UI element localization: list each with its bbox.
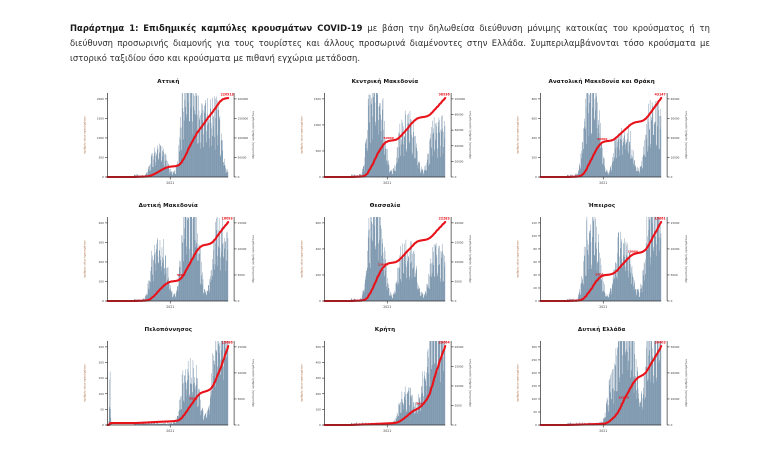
- y-tick-label-right: 0: [454, 423, 456, 427]
- y-tick-label-left: 500: [315, 149, 320, 153]
- y-tick-label-right: 10000: [238, 247, 247, 251]
- epidemic-curve-chart: 0501001502002500500010000150002021αριθμό…: [62, 333, 275, 448]
- cumulative-mid-label: 10000: [378, 262, 388, 266]
- y-tick-label-left: 100: [315, 407, 320, 411]
- cumulative-end-label: 15861: [655, 217, 666, 221]
- x-tick-label: 2021: [166, 429, 174, 433]
- y-tick-label-right: 20000: [454, 221, 463, 225]
- daily-cases-bars: [351, 93, 445, 177]
- y-tick-label-right: 30000: [671, 116, 680, 120]
- y-tick-label-right: 0: [671, 423, 673, 427]
- x-tick-label: 2021: [383, 181, 391, 185]
- y-axis-title-right: αθροιστικός αριθμός κρουσμάτων: [684, 235, 688, 283]
- x-tick-label: 2021: [383, 305, 391, 309]
- y-tick-label-left: 0: [536, 299, 538, 303]
- y-tick-label-left: 300: [99, 240, 104, 244]
- y-tick-label-left: 1000: [314, 123, 321, 127]
- cumulative-end-label: 98936: [438, 93, 450, 97]
- y-tick-label-left: 0: [102, 299, 104, 303]
- y-tick-label-right: 10000: [671, 156, 680, 160]
- y-tick-label-left: 0: [319, 423, 321, 427]
- x-tick-label: 2021: [600, 429, 608, 433]
- y-tick-label-left: 600: [315, 221, 320, 225]
- y-tick-label-right: 5000: [238, 273, 245, 277]
- cumulative-mid-label: 20000: [597, 137, 607, 141]
- y-tick-label-left: 40: [534, 273, 538, 277]
- y-axis-title-right: αθροιστικός αριθμός κρουσμάτων: [468, 359, 472, 407]
- y-tick-label-left: 400: [315, 247, 320, 251]
- daily-cases-bars: [108, 341, 228, 425]
- y-tick-label-left: 100: [99, 280, 104, 284]
- cumulative-mid-label: 5000: [596, 273, 604, 277]
- y-axis-title-left: αριθμός νέων κρουσμάτων: [83, 364, 87, 402]
- x-tick-label: 2021: [166, 305, 174, 309]
- y-tick-label-left: 250: [99, 345, 104, 349]
- y-tick-label-right: 15000: [238, 221, 247, 225]
- y-axis-title-left: αριθμός νέων κρουσμάτων: [299, 116, 303, 154]
- document-page: Παράρτημα 1: Επιδημικές καμπύλες κρουσμά…: [0, 0, 764, 457]
- cumulative-mid-label: 50000: [383, 136, 393, 140]
- y-tick-label-right: 10000: [454, 384, 463, 388]
- y-tick-label-left: 80: [534, 247, 538, 251]
- y-tick-label-left: 0: [319, 175, 321, 179]
- y-tick-label-left: 300: [532, 345, 537, 349]
- y-axis-title-right: αθροιστικός αριθμός κρουσμάτων: [468, 235, 472, 283]
- x-tick-label: 2021: [600, 181, 608, 185]
- daily-cases-bars: [351, 341, 445, 425]
- daily-cases-bars: [567, 341, 661, 425]
- y-tick-label-right: 60000: [454, 128, 463, 132]
- epidemic-curve-chart: 05010015020025030001000020000300002021αρ…: [495, 333, 708, 448]
- cumulative-end-label: 16093: [222, 217, 233, 221]
- chart-panel: Δυτική Μακεδονία010020030040005000100001…: [62, 200, 275, 324]
- y-tick-label-right: 10000: [238, 371, 247, 375]
- epidemic-curve-chart: 01002003004000500010000150002021αριθμός …: [62, 209, 275, 324]
- y-tick-label-left: 20: [534, 286, 538, 290]
- x-tick-label: 2021: [166, 181, 174, 185]
- cumulative-mid-label: 10000: [628, 249, 638, 253]
- y-tick-label-left: 600: [532, 116, 537, 120]
- y-tick-label-left: 100: [532, 234, 537, 238]
- y-tick-label-right: 30000: [671, 345, 680, 349]
- x-tick-label: 2021: [383, 429, 391, 433]
- caption-bold-title: Επιδημικές καμπύλες κρουσμάτων COVID-19: [143, 23, 362, 33]
- chart-panel: Αττική0500100015002000050000100000150000…: [62, 76, 275, 200]
- y-tick-label-right: 0: [238, 423, 240, 427]
- y-tick-label-right: 15000: [454, 240, 463, 244]
- y-tick-label-right: 0: [671, 299, 673, 303]
- chart-panel: Πελοπόννησος0501001502002500500010000150…: [62, 324, 275, 448]
- y-tick-label-left: 400: [315, 361, 320, 365]
- y-tick-label-right: 15000: [238, 345, 247, 349]
- cumulative-mid-label: 5000: [416, 402, 424, 406]
- y-tick-label-left: 150: [99, 376, 104, 380]
- y-tick-label-left: 200: [315, 273, 320, 277]
- y-tick-label-right: 5000: [671, 273, 678, 277]
- y-tick-label-right: 0: [454, 175, 456, 179]
- y-tick-label-right: 40000: [671, 97, 680, 101]
- y-axis-title-right: αθροιστικός αριθμός κρουσμάτων: [251, 111, 255, 159]
- x-tick-label: 2021: [600, 305, 608, 309]
- y-axis-title-left: αριθμός νέων κρουσμάτων: [83, 240, 87, 278]
- daily-cases-bars: [351, 217, 445, 301]
- y-tick-label-right: 80000: [454, 113, 463, 117]
- epidemic-curve-chart: 0204060801001200500010000150002021αριθμό…: [495, 209, 708, 324]
- y-tick-label-left: 800: [532, 97, 537, 101]
- y-tick-label-left: 50: [534, 410, 538, 414]
- y-tick-label-left: 200: [532, 156, 537, 160]
- y-tick-label-left: 1000: [97, 136, 104, 140]
- y-tick-label-left: 0: [102, 175, 104, 179]
- y-tick-label-left: 100: [532, 397, 537, 401]
- y-tick-label-right: 100000: [454, 97, 465, 101]
- y-tick-label-right: 0: [238, 175, 240, 179]
- daily-cases-bars: [567, 93, 661, 177]
- y-tick-label-right: 150000: [238, 116, 249, 120]
- y-tick-label-right: 20000: [454, 345, 463, 349]
- y-axis-title-left: αριθμός νέων κρουσμάτων: [516, 240, 520, 278]
- y-axis-title-left: αριθμός νέων κρουσμάτων: [516, 364, 520, 402]
- y-tick-label-right: 10000: [671, 247, 680, 251]
- y-tick-label-right: 40000: [454, 144, 463, 148]
- y-axis-title-right: αθροιστικός αριθμός κρουσμάτων: [684, 359, 688, 407]
- y-tick-label-left: 0: [536, 175, 538, 179]
- y-tick-label-left: 1500: [97, 116, 104, 120]
- epidemic-curve-chart: 0500100015000200004000060000800001000002…: [279, 85, 492, 200]
- cumulative-end-label: 220913: [221, 93, 234, 97]
- y-tick-label-left: 200: [99, 260, 104, 264]
- y-tick-label-right: 50000: [238, 156, 247, 160]
- y-axis-title-left: αριθμός νέων κρουσμάτων: [299, 364, 303, 402]
- chart-panel: Θεσσαλία02004006000500010000150002000020…: [279, 200, 492, 324]
- y-tick-label-left: 60: [534, 260, 538, 264]
- y-tick-label-left: 1500: [314, 97, 321, 101]
- y-tick-label-left: 500: [99, 156, 104, 160]
- chart-grid: Αττική0500100015002000050000100000150000…: [62, 76, 708, 448]
- y-tick-label-left: 120: [532, 221, 537, 225]
- y-tick-label-right: 15000: [671, 221, 680, 225]
- y-tick-label-right: 0: [671, 175, 673, 179]
- y-axis-title-right: αθροιστικός αριθμός κρουσμάτων: [251, 359, 255, 407]
- caption-prefix: Παράρτημα 1:: [70, 23, 138, 33]
- y-tick-label-right: 5000: [454, 280, 461, 284]
- chart-panel: Δυτική Ελλάδα050100150200250300010000200…: [495, 324, 708, 448]
- chart-panel: Ήπειρος020406080100120050001000015000202…: [495, 200, 708, 324]
- y-tick-label-left: 50: [100, 407, 104, 411]
- y-tick-label-left: 0: [536, 423, 538, 427]
- y-tick-label-left: 300: [315, 376, 320, 380]
- y-tick-label-left: 150: [532, 384, 537, 388]
- y-axis-title-right: αθροιστικός αριθμός κρουσμάτων: [468, 111, 472, 159]
- y-tick-label-right: 20000: [671, 136, 680, 140]
- y-tick-label-right: 200000: [238, 97, 249, 101]
- y-tick-label-left: 200: [532, 371, 537, 375]
- y-tick-label-right: 100000: [238, 136, 249, 140]
- y-tick-label-right: 5000: [238, 397, 245, 401]
- daily-cases-bars: [134, 217, 228, 301]
- y-tick-label-left: 200: [99, 361, 104, 365]
- y-tick-label-left: 2000: [97, 97, 104, 101]
- epidemic-curve-chart: 02004006008000100002000030000400002021αρ…: [495, 85, 708, 200]
- cumulative-mid-label: 5000: [189, 396, 197, 400]
- cumulative-end-label: 22283: [438, 217, 449, 221]
- y-tick-label-left: 0: [102, 423, 104, 427]
- cumulative-end-label: 20664: [438, 341, 450, 345]
- y-tick-label-right: 20000: [671, 371, 680, 375]
- y-axis-title-left: αριθμός νέων κρουσμάτων: [299, 240, 303, 278]
- y-axis-title-right: αθροιστικός αριθμός κρουσμάτων: [251, 235, 255, 283]
- y-axis-title-left: αριθμός νέων κρουσμάτων: [83, 116, 87, 154]
- daily-cases-bars: [134, 93, 228, 177]
- y-tick-label-right: 15000: [454, 364, 463, 368]
- y-axis-title-right: αθροιστικός αριθμός κρουσμάτων: [684, 111, 688, 159]
- y-tick-label-right: 0: [238, 299, 240, 303]
- chart-panel: Ανατολική Μακεδονία και Θράκη02004006008…: [495, 76, 708, 200]
- cumulative-end-label: 15686: [222, 341, 234, 345]
- y-tick-label-left: 100: [99, 392, 104, 396]
- epidemic-curve-chart: 0500100015002000050000100000150000200000…: [62, 85, 275, 200]
- y-axis-title-left: αριθμός νέων κρουσμάτων: [516, 116, 520, 154]
- y-tick-label-right: 0: [454, 299, 456, 303]
- y-tick-label-left: 250: [532, 358, 537, 362]
- chart-panel: Κεντρική Μακεδονία0500100015000200004000…: [279, 76, 492, 200]
- cumulative-mid-label: 5000: [177, 273, 185, 277]
- chart-panel: Κρήτη01002003004005000500010000150002000…: [279, 324, 492, 448]
- cumulative-end-label: 43147: [655, 93, 666, 97]
- y-tick-label-right: 10000: [454, 260, 463, 264]
- y-tick-label-right: 5000: [454, 404, 461, 408]
- cumulative-end-label: 30403: [655, 341, 666, 345]
- y-tick-label-left: 400: [532, 136, 537, 140]
- y-tick-label-left: 500: [315, 345, 320, 349]
- epidemic-curve-chart: 0100200300400500050001000015000200002021…: [279, 333, 492, 448]
- y-tick-label-left: 200: [315, 392, 320, 396]
- y-tick-label-right: 20000: [454, 159, 463, 163]
- y-tick-label-right: 10000: [671, 397, 680, 401]
- figure-caption: Παράρτημα 1: Επιδημικές καμπύλες κρουσμά…: [70, 21, 710, 65]
- cumulative-mid-label: 10000: [619, 395, 629, 399]
- epidemic-curve-chart: 0200400600050001000015000200002021αριθμό…: [279, 209, 492, 324]
- daily-cases-bars: [567, 217, 661, 301]
- y-tick-label-left: 0: [319, 299, 321, 303]
- y-tick-label-left: 400: [99, 221, 104, 225]
